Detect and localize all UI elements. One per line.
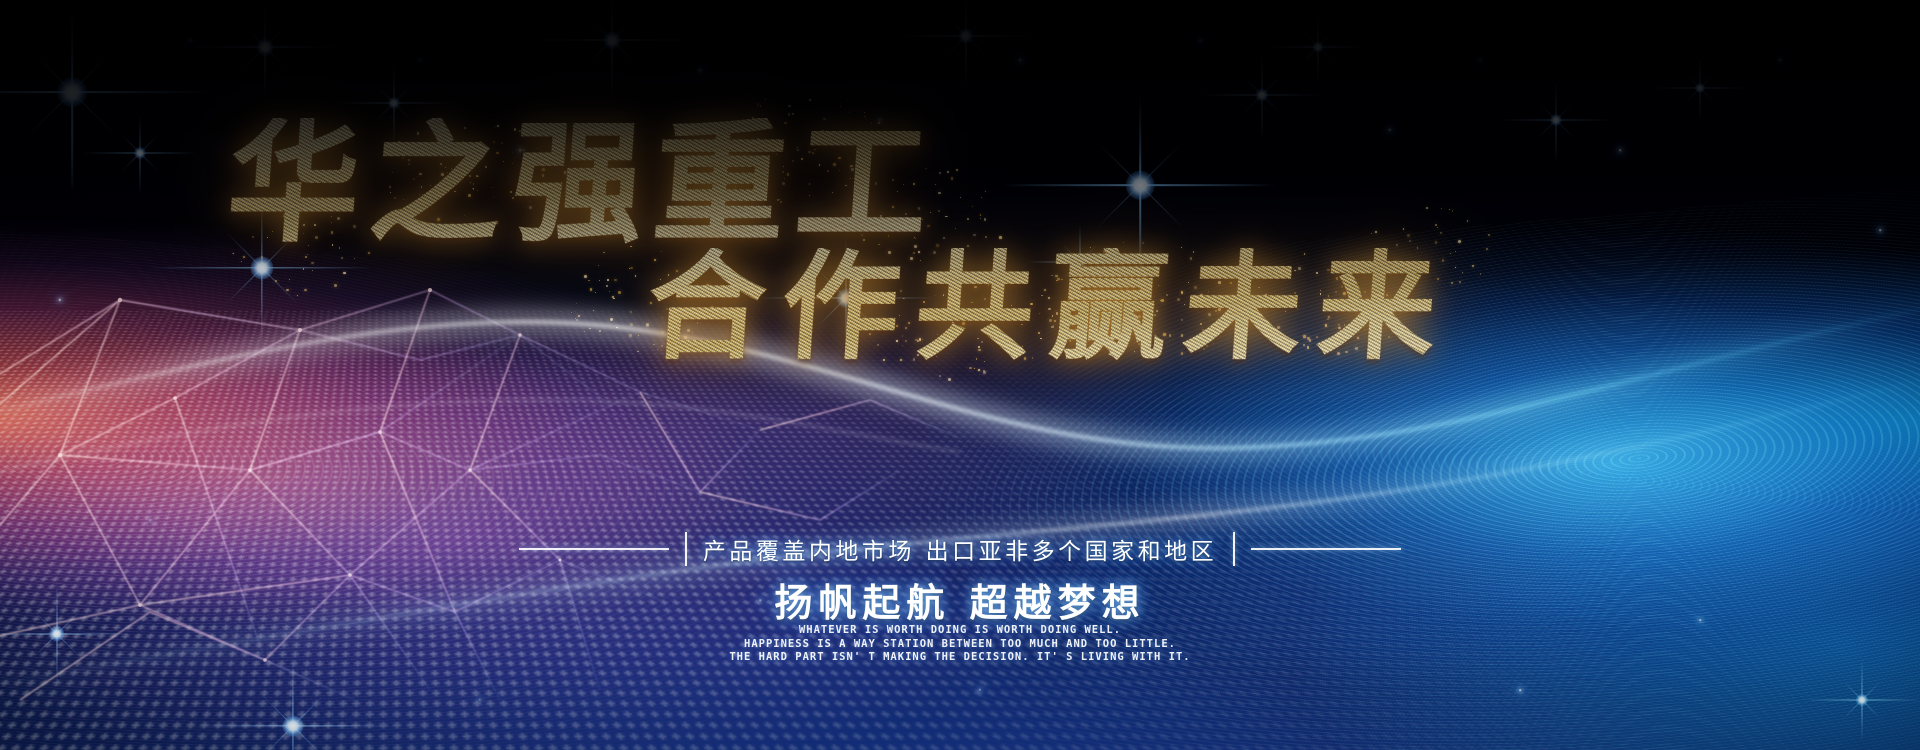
company-title-line2: 合作共赢未来 (644, 248, 1456, 366)
divider-rule-right (1251, 548, 1401, 550)
divider-bar-right (1233, 532, 1235, 566)
company-title-line1: 华之强重工 (223, 118, 942, 250)
english-line-1: WHATEVER IS WORTH DOING IS WORTH DOING W… (0, 624, 1920, 638)
subtitle-row: 产品覆盖内地市场 出口亚非多个国家和地区 (0, 529, 1920, 569)
english-line-2: HAPPINESS IS A WAY STATION BETWEEN TOO M… (0, 638, 1920, 652)
slogan-text: 扬帆起航 超越梦想 (0, 572, 1920, 627)
english-tagline-block: WHATEVER IS WORTH DOING IS WORTH DOING W… (0, 624, 1920, 665)
subtitle-text: 产品覆盖内地市场 出口亚非多个国家和地区 (703, 532, 1217, 566)
divider-rule-left (519, 548, 669, 550)
english-line-3: THE HARD PART ISN' T MAKING THE DECISION… (0, 651, 1920, 665)
divider-bar-left (685, 532, 687, 566)
banner-canvas: 华之强重工 合作共赢未来 产品覆盖内地市场 出口亚非多个国家和地区 扬帆起航 超… (0, 0, 1920, 750)
